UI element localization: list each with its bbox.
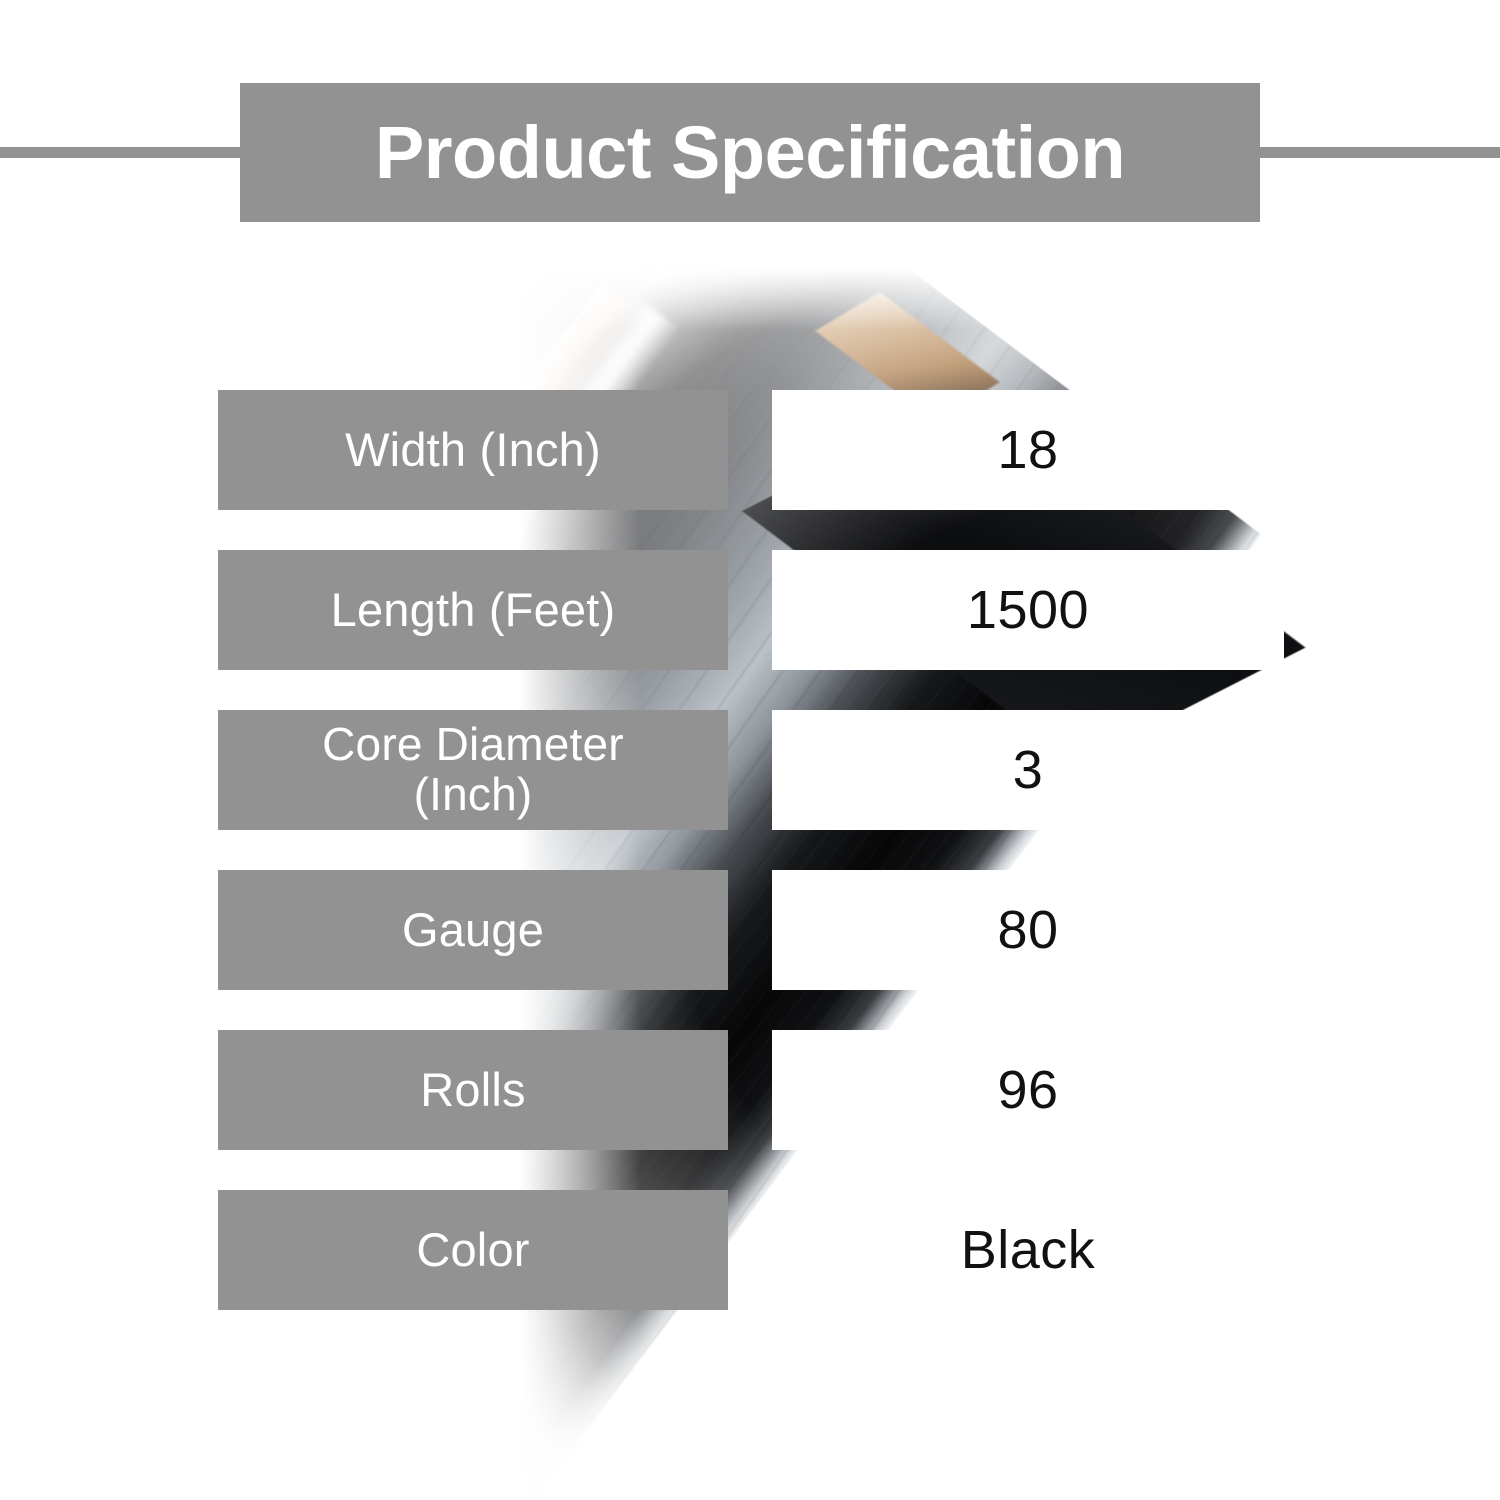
spec-value-text: 18 <box>997 423 1058 477</box>
spec-value-text: 96 <box>997 1063 1058 1117</box>
spec-label-rolls: Rolls <box>218 1030 728 1150</box>
title-rule-left <box>0 147 250 158</box>
spec-value-color: Black <box>772 1190 1284 1310</box>
spec-label-text: Core Diameter(Inch) <box>322 720 624 819</box>
spec-label-line-2: (Inch) <box>414 768 533 820</box>
table-row: Rolls 96 <box>218 1030 1284 1150</box>
spec-value-text: 3 <box>1013 743 1044 797</box>
spec-label-length: Length (Feet) <box>218 550 728 670</box>
table-row: Gauge 80 <box>218 870 1284 990</box>
spec-value-rolls: 96 <box>772 1030 1284 1150</box>
table-row: Length (Feet) 1500 <box>218 550 1284 670</box>
spec-value-gauge: 80 <box>772 870 1284 990</box>
spec-label-line-1: Core Diameter <box>322 718 624 770</box>
spec-value-length: 1500 <box>772 550 1284 670</box>
table-row: Width (Inch) 18 <box>218 390 1284 510</box>
spec-label-text: Rolls <box>420 1065 525 1116</box>
title-banner: Product Specification <box>240 83 1260 222</box>
product-specification-page: Product Specification Width (Inch) 18 Le… <box>0 0 1500 1500</box>
spec-label-width: Width (Inch) <box>218 390 728 510</box>
spec-label-color: Color <box>218 1190 728 1310</box>
table-row: Color Black <box>218 1190 1284 1310</box>
page-title: Product Specification <box>375 116 1125 190</box>
spec-label-text: Color <box>416 1225 529 1276</box>
spec-value-width: 18 <box>772 390 1284 510</box>
spec-label-text: Width (Inch) <box>345 425 601 476</box>
spec-label-gauge: Gauge <box>218 870 728 990</box>
spec-label-core-diameter: Core Diameter(Inch) <box>218 710 728 830</box>
spec-value-text: 80 <box>997 903 1058 957</box>
spec-value-text: 1500 <box>967 583 1089 637</box>
spec-label-text: Length (Feet) <box>331 585 616 636</box>
table-row: Core Diameter(Inch) 3 <box>218 710 1284 830</box>
specification-table: Width (Inch) 18 Length (Feet) 1500 Core … <box>218 390 1284 1310</box>
spec-value-text: Black <box>961 1223 1096 1277</box>
title-rule-right <box>1250 147 1500 158</box>
spec-value-core-diameter: 3 <box>772 710 1284 830</box>
spec-label-text: Gauge <box>402 905 544 956</box>
